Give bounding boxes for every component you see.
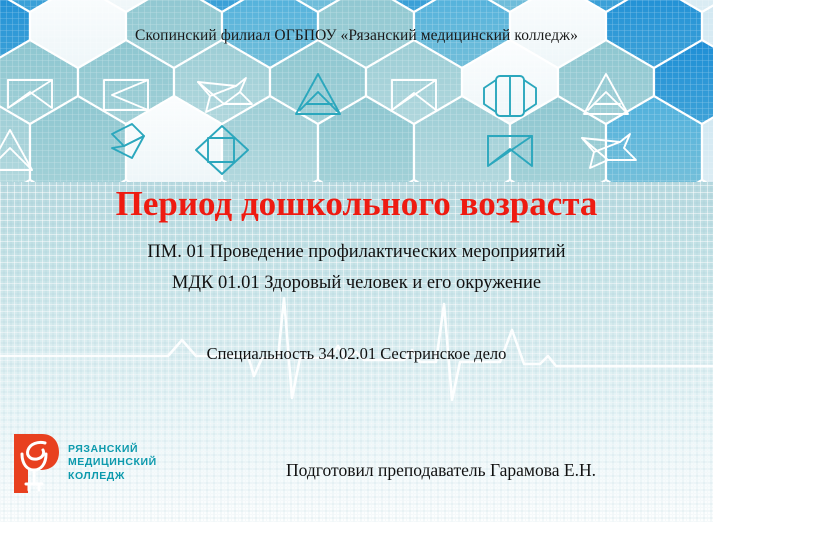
- college-logo: Рязанский Медицинский Колледж: [12, 429, 172, 497]
- subtitle-course: МДК 01.01 Здоровый человек и его окружен…: [0, 268, 713, 299]
- logo-text-block: Рязанский Медицинский Колледж: [68, 443, 157, 484]
- logo-line-1: Рязанский: [68, 443, 157, 457]
- author-line: Подготовил преподаватель Гарамова Е.Н.: [286, 460, 706, 481]
- slide-title: Период дошкольного возраста: [0, 183, 713, 225]
- logo-line-3: Колледж: [68, 470, 157, 484]
- bowl-of-hygieia-emblem: [12, 432, 60, 495]
- presentation-slide: Скопинский филиал ОГБПОУ «Рязанский меди…: [0, 0, 713, 522]
- slide-header-institution: Скопинский филиал ОГБПОУ «Рязанский меди…: [0, 27, 713, 45]
- subtitle-block: ПМ. 01 Проведение профилактических мероп…: [0, 237, 713, 299]
- logo-line-2: Медицинский: [68, 456, 157, 470]
- specialty-line: Специальность 34.02.01 Сестринское дело: [0, 344, 713, 364]
- subtitle-module: ПМ. 01 Проведение профилактических мероп…: [0, 237, 713, 268]
